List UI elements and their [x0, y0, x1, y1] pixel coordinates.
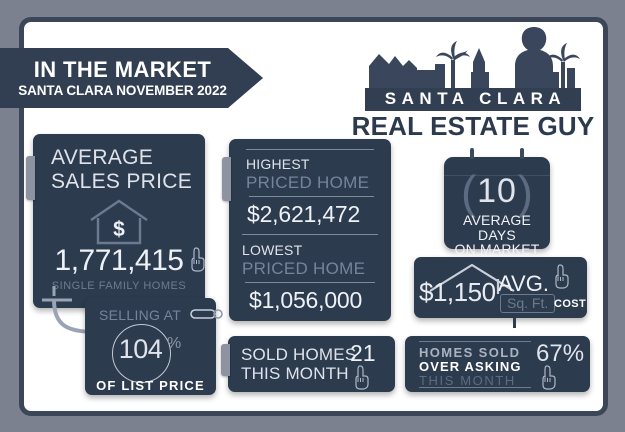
card-stem	[513, 314, 516, 328]
paperclip-icon	[190, 307, 224, 321]
sqft-price-value: $1,150	[419, 279, 496, 305]
card-tab	[221, 344, 230, 376]
svg-text:$: $	[113, 218, 125, 241]
card-tab	[222, 157, 231, 201]
days-on-market-value: 10	[444, 174, 550, 208]
sold-homes-label-2: THIS MONTH	[241, 365, 349, 382]
pointing-hand-icon	[190, 246, 206, 272]
lowest-label-1: LOWEST	[242, 243, 302, 257]
sold-homes-label-1: SOLD HOMES	[241, 346, 356, 363]
infographic-canvas: IN THE MARKET SANTA CLARA NOVEMBER 2022	[0, 0, 625, 432]
banner-title: IN THE MARKET	[34, 59, 212, 81]
pointing-hand-icon	[554, 263, 570, 289]
logo-brand-text: REAL ESTATE GUY	[348, 112, 598, 141]
selling-at-card: SELLING AT 104 % OF LIST PRICE	[85, 298, 216, 395]
selling-at-label: SELLING AT	[99, 307, 181, 323]
sqft-cost-card: $1,150 AVG. Sq. Ft. COST	[414, 257, 587, 318]
over-asking-label-2: OVER ASKING	[419, 360, 522, 373]
average-sales-price-card: AVERAGE SALES PRICE $ 1,771,415 SINGLE F…	[33, 134, 205, 308]
header-banner: IN THE MARKET SANTA CLARA NOVEMBER 2022	[0, 48, 263, 108]
days-on-market-label: AVERAGE DAYS ON MARKET	[444, 213, 550, 257]
logo-city-text: SANTA CLARA	[365, 88, 581, 111]
days-on-market-card: ( ) 10 AVERAGE DAYS ON MARKET	[444, 157, 550, 249]
sold-homes-value: 21	[350, 342, 376, 365]
calendar-ring	[520, 148, 524, 159]
pointing-hand-icon	[354, 364, 370, 390]
pointing-hand-icon	[541, 364, 557, 390]
highest-price-value: $2,621,472	[247, 203, 360, 226]
sqft-unit-label: Sq. Ft.	[500, 294, 555, 313]
average-sales-price-title: AVERAGE SALES PRICE	[51, 146, 192, 193]
sold-homes-card: SOLD HOMES THIS MONTH 21	[228, 336, 395, 392]
selling-at-value: 104	[112, 336, 169, 363]
over-asking-card: HOMES SOLD OVER ASKING THIS MONTH 67%	[405, 336, 590, 392]
average-sales-price-value: 1,771,415	[44, 246, 194, 276]
highest-label-2: PRICED HOME	[246, 174, 369, 191]
selling-at-percent: %	[167, 335, 181, 353]
brand-logo: SANTA CLARA REAL ESTATE GUY	[348, 26, 598, 138]
highest-label-1: HIGHEST	[246, 157, 310, 171]
price-range-card: HIGHEST PRICED HOME $2,621,472 LOWEST PR…	[229, 139, 391, 321]
over-asking-label-3: THIS MONTH	[419, 374, 516, 387]
banner-subtitle: SANTA CLARA NOVEMBER 2022	[18, 84, 227, 98]
of-list-price-label: OF LIST PRICE	[85, 378, 216, 393]
house-dollar-icon: $	[87, 198, 151, 246]
calendar-ring	[470, 148, 474, 159]
over-asking-label-1: HOMES SOLD	[419, 346, 520, 359]
card-tab	[26, 156, 35, 200]
sqft-cost-label: COST	[554, 298, 586, 310]
lowest-price-value: $1,056,000	[249, 289, 362, 312]
over-asking-value: 67%	[536, 342, 584, 366]
city-skyline-silhouette-icon	[365, 26, 581, 88]
lowest-label-2: PRICED HOME	[242, 260, 365, 277]
sqft-avg-label: AVG.	[498, 273, 549, 295]
